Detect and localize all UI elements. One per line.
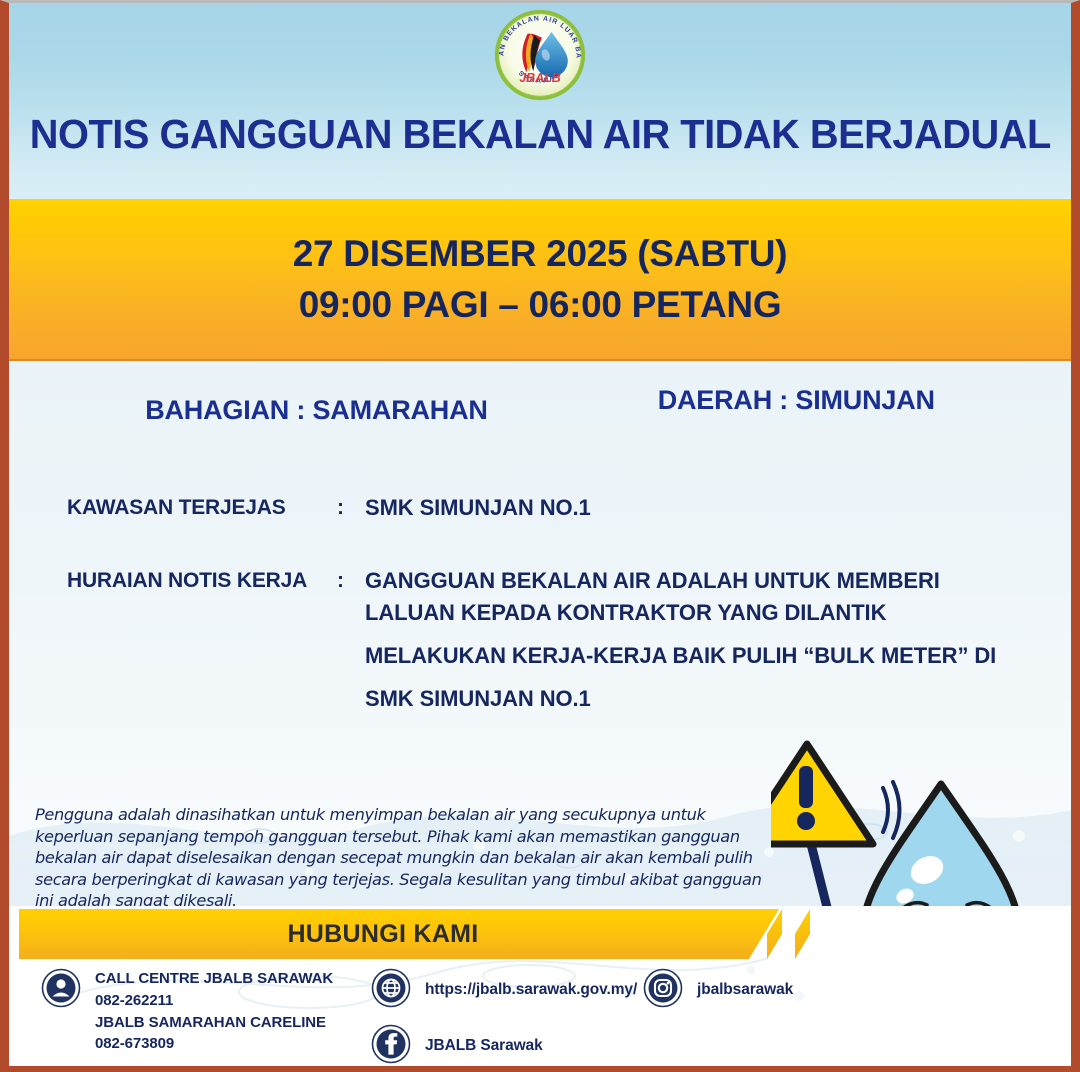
warning-triangle-sign: [771, 744, 900, 906]
field-kawasan-terjejas: KAWASAN TERJEJAS : SMK SIMUNJAN NO.1: [67, 496, 591, 520]
call-centre-text: CALL CENTRE JBALB SARAWAK 082-262211 JBA…: [95, 968, 333, 1055]
hubungi-kami-banner: HUBUNGI KAMI: [19, 909, 779, 959]
disclaimer-text: Pengguna adalah dinasihatkan untuk menyi…: [35, 804, 770, 906]
kawasan-colon: :: [337, 496, 365, 520]
date-time-band: 27 DISEMBER 2025 (SABTU) 09:00 PAGI – 06…: [9, 199, 1071, 361]
huraian-line: MELAKUKAN KERJA-KERJA BAIK PULIH “BULK M…: [365, 635, 996, 678]
poster-header: JABATAN BEKALAN AIR LUAR BANDAR SARAWAK …: [9, 3, 1071, 199]
poster-footer: HUBUNGI KAMI CALL CENTRE JBALB SARAWAK 0…: [9, 906, 1071, 1072]
contact-call-centre: CALL CENTRE JBALB SARAWAK 082-262211 JBA…: [41, 968, 333, 1055]
bahagian-label: BAHAGIAN : SAMARAHAN: [145, 395, 487, 426]
jbalb-logo: JABATAN BEKALAN AIR LUAR BANDAR SARAWAK …: [492, 5, 588, 105]
contact-facebook[interactable]: JBALB Sarawak: [371, 1024, 543, 1064]
huraian-notis-kerja-label: HURAIAN NOTIS KERJA: [67, 569, 337, 593]
huraian-line: LALUAN KEPADA KONTRAKTOR YANG DILANTIK: [365, 592, 996, 635]
svg-text:JBALB: JBALB: [519, 71, 561, 85]
jbalb-logo-svg: JABATAN BEKALAN AIR LUAR BANDAR SARAWAK …: [492, 5, 588, 105]
field-huraian-notis-kerja: HURAIAN NOTIS KERJA : GANGGUAN BEKALAN A…: [67, 569, 996, 721]
notice-time: 09:00 PAGI – 06:00 PETANG: [299, 279, 782, 330]
daerah-label: DAERAH : SIMUNJAN: [658, 385, 935, 416]
instagram-handle[interactable]: jbalbsarawak: [697, 968, 793, 1001]
call-centre-line: CALL CENTRE JBALB SARAWAK: [95, 968, 333, 990]
banner-stripe-2: [795, 909, 810, 959]
page-title: NOTIS GANGGUAN BEKALAN AIR TIDAK BERJADU…: [29, 111, 1050, 158]
call-centre-line: 082-673809: [95, 1033, 333, 1055]
contact-instagram[interactable]: jbalbsarawak: [643, 968, 793, 1008]
poster-body: BAHAGIAN : SAMARAHAN DAERAH : SIMUNJAN K…: [9, 361, 1071, 906]
facebook-handle[interactable]: JBALB Sarawak: [425, 1024, 543, 1057]
call-centre-line: JBALB SAMARAHAN CARELINE: [95, 1012, 333, 1034]
region-row: BAHAGIAN : SAMARAHAN DAERAH : SIMUNJAN: [9, 395, 1071, 426]
notice-poster: JABATAN BEKALAN AIR LUAR BANDAR SARAWAK …: [0, 0, 1080, 1072]
contact-list: CALL CENTRE JBALB SARAWAK 082-262211 JBA…: [9, 964, 1071, 1072]
kawasan-terjejas-value: SMK SIMUNJAN NO.1: [365, 497, 591, 519]
water-droplet-mascot: [771, 726, 1071, 906]
notice-date: 27 DISEMBER 2025 (SABTU): [293, 228, 788, 279]
person-icon: [41, 968, 81, 1008]
huraian-line: GANGGUAN BEKALAN AIR ADALAH UNTUK MEMBER…: [365, 569, 996, 592]
huraian-colon: :: [337, 569, 365, 593]
website-url[interactable]: https://jbalb.sarawak.gov.my/: [425, 968, 637, 1001]
hubungi-kami-label: HUBUNGI KAMI: [287, 920, 478, 949]
kawasan-terjejas-label: KAWASAN TERJEJAS: [67, 496, 337, 520]
huraian-notis-kerja-value: GANGGUAN BEKALAN AIR ADALAH UNTUK MEMBER…: [365, 569, 996, 721]
call-centre-line: 082-262211: [95, 990, 333, 1012]
huraian-line: SMK SIMUNJAN NO.1: [365, 678, 996, 721]
instagram-icon[interactable]: [643, 968, 683, 1008]
facebook-icon[interactable]: [371, 1024, 411, 1064]
globe-icon[interactable]: [371, 968, 411, 1008]
contact-website[interactable]: https://jbalb.sarawak.gov.my/: [371, 968, 637, 1008]
